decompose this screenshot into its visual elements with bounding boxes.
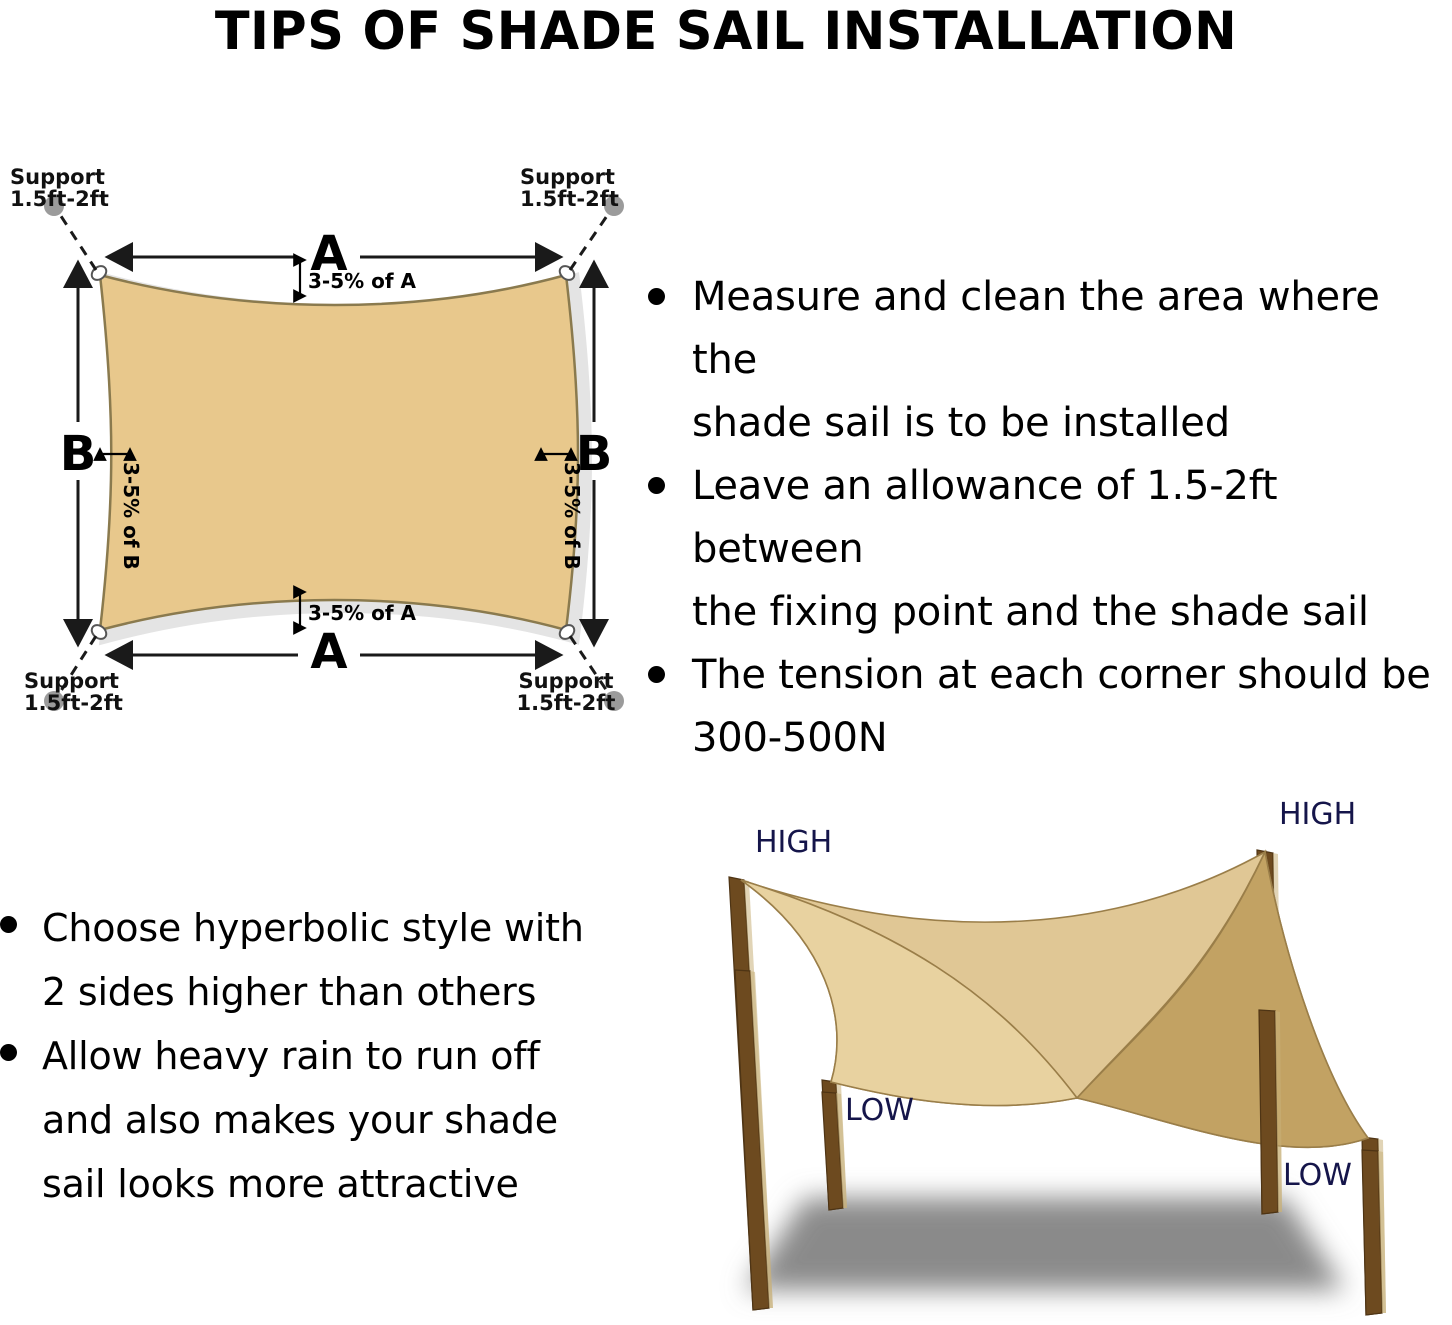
tip-text: The tension at each corner should be 300… [692, 644, 1452, 770]
bullet-icon [648, 288, 665, 305]
post-low-right-front [1362, 1150, 1386, 1315]
support-label-top-left-line2: 1.5ft-2ft [10, 187, 109, 211]
hyperbolic-style-tips-list: Choose hyperbolic style with 2 sides hig… [0, 896, 632, 1226]
tip-text: Measure and clean the area where the sha… [692, 266, 1452, 455]
label-low-left: LOW [845, 1093, 914, 1128]
support-label-bottom-right-line1: Support [519, 669, 614, 693]
hyperbolic-sail-diagram: HIGH HIGH LOW LOW [645, 780, 1452, 1325]
list-item: The tension at each corner should be 300… [648, 644, 1452, 770]
curvature-label-top: 3-5% of A [308, 269, 417, 293]
dimension-label-a-bottom: A [310, 624, 347, 680]
installation-tips-list: Measure and clean the area where the sha… [648, 266, 1452, 666]
dimension-b-left: B [60, 285, 97, 622]
style-tips-bullet-list: Choose hyperbolic style with 2 sides hig… [0, 896, 632, 1216]
label-high-right: HIGH [1279, 797, 1356, 832]
bullet-icon [648, 666, 665, 683]
bullet-icon [648, 477, 665, 494]
shade-sail-shape [100, 275, 578, 630]
support-label-bottom-left-line1: Support [24, 669, 119, 693]
dimension-a-bottom: A [130, 624, 538, 680]
list-item: Allow heavy rain to run off and also mak… [0, 1024, 632, 1216]
ground-shadow [745, 1198, 1345, 1290]
list-item: Choose hyperbolic style with 2 sides hig… [0, 896, 632, 1024]
support-label-top-right-line1: Support [520, 165, 615, 189]
curvature-label-right: 3-5% of B [560, 462, 584, 570]
post-high-right-front [1259, 1010, 1282, 1214]
rect-diagram-svg: Support 1.5ft-2ft Support 1.5ft-2ft Supp… [0, 160, 650, 740]
list-item: Measure and clean the area where the sha… [648, 266, 1452, 455]
support-label-bottom-right-line2: 1.5ft-2ft [517, 691, 616, 715]
bullet-icon [0, 1044, 17, 1061]
bullet-icon [0, 916, 17, 933]
post-low-left-front [822, 1092, 847, 1210]
curvature-label-left: 3-5% of B [119, 462, 143, 570]
tips-bullet-list: Measure and clean the area where the sha… [648, 266, 1452, 770]
list-item: Leave an allowance of 1.5-2ft between th… [648, 455, 1452, 644]
label-high-left: HIGH [755, 825, 832, 860]
support-label-top-right-line2: 1.5ft-2ft [520, 187, 619, 211]
dimension-label-b-left: B [60, 426, 97, 482]
support-label-bottom-left-line2: 1.5ft-2ft [24, 691, 123, 715]
style-tip-text: Choose hyperbolic style with 2 sides hig… [42, 896, 632, 1024]
label-low-right: LOW [1283, 1158, 1352, 1193]
tip-text: Leave an allowance of 1.5-2ft between th… [692, 455, 1452, 644]
hyperbolic-sail-svg: HIGH HIGH LOW LOW [645, 780, 1452, 1325]
curvature-label-bottom: 3-5% of A [308, 601, 417, 625]
style-tip-text: Allow heavy rain to run off and also mak… [42, 1024, 632, 1216]
page-title: TIPS OF SHADE SAIL INSTALLATION [29, 2, 1423, 62]
post-high-left-front [735, 970, 773, 1310]
support-label-top-left-line1: Support [10, 165, 105, 189]
rectangular-sail-diagram: Support 1.5ft-2ft Support 1.5ft-2ft Supp… [0, 160, 650, 740]
